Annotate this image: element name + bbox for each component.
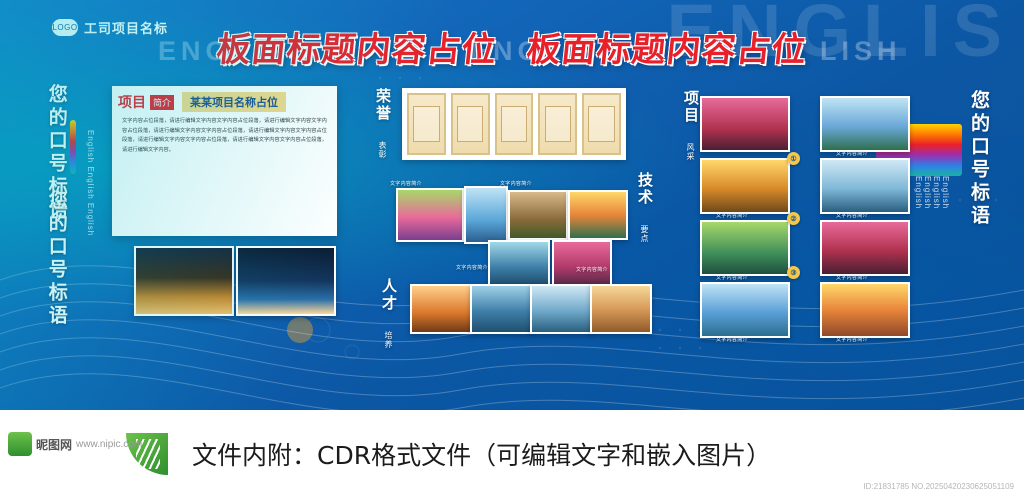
watermark-english-large: ENGLIS — [667, 0, 1014, 73]
section-talent-sub: 培养 — [384, 331, 393, 349]
rainbow-bar-right — [876, 124, 962, 176]
gallery-caption: 文字内容简介 — [576, 266, 608, 273]
section-tech-sub: 要点 — [640, 225, 649, 243]
style-photo — [700, 96, 790, 152]
talent-photo — [590, 284, 652, 334]
slogan-right: 您的口号标语 — [966, 90, 990, 228]
nipic-logo-icon — [8, 432, 32, 456]
asset-id-line: ID:21831785 NO.20250420230625051109 — [863, 482, 1014, 491]
gallery-caption: 文字内容简介 — [390, 180, 422, 187]
section-title-honor: 荣誉 表彰 — [372, 88, 393, 159]
certificate-frame — [495, 93, 534, 155]
wave-lines — [0, 220, 1024, 410]
poster-canvas: ENGLIS ENGLISH ENGLISH LISH LOGO 工司项目名标 … — [0, 0, 1024, 410]
section-honor-main: 荣誉 — [374, 88, 391, 122]
style-photo — [700, 220, 790, 276]
style-photo — [700, 282, 790, 338]
talent-photo — [410, 284, 472, 334]
gallery-photo — [396, 188, 464, 242]
photo-city-night — [134, 246, 234, 316]
section-tech-main: 技术 — [636, 172, 653, 206]
step-number-1: ① — [787, 152, 800, 165]
certificate-frame — [538, 93, 577, 155]
gallery-photo — [508, 190, 568, 240]
watermark-english-mid-3: LISH — [820, 36, 902, 67]
headline-part-2: 板面标题内容占位 — [525, 22, 810, 71]
logo-icon: LOGO — [52, 19, 78, 36]
bottom-note: 文件内附：CDR格式文件（可编辑文字和嵌入图片） — [192, 436, 771, 472]
section-title-tech: 技术 要点 — [634, 172, 655, 243]
slogan-english-left: English English English — [86, 130, 95, 236]
rainbow-bar-left — [70, 120, 76, 174]
headline-part-1: 板面标题内容占位 — [214, 22, 499, 71]
style-caption: 文字内容简介 — [836, 212, 868, 219]
project-intro-card: 项目 简介 某某项目名称占位 文字内容占位段落，请进行编辑文字内容文字内容占位段… — [112, 86, 337, 236]
intro-title-main: 项目 — [118, 92, 146, 112]
section-talent-main: 人才 — [380, 278, 397, 312]
style-caption: 文字内容简介 — [836, 274, 868, 281]
slogan-left-2: 您的口号标语 — [44, 190, 68, 328]
gallery-caption: 文字内容简介 — [456, 264, 488, 271]
photo-city-skyline — [236, 246, 336, 316]
intro-body-text: 文字内容占位段落，请进行编辑文字内容文字内容占位段落，请进行编辑文字内容文字内容… — [112, 115, 337, 156]
intro-header: 项目 简介 某某项目名称占位 — [112, 86, 337, 115]
step-number-2: ② — [787, 212, 800, 225]
section-style-sub: 风采 — [686, 143, 695, 161]
style-photo — [820, 158, 910, 214]
style-caption: 文字内容简介 — [716, 336, 748, 343]
certificate-frame — [451, 93, 490, 155]
style-photo — [820, 96, 910, 152]
section-style-main: 项目 — [682, 90, 699, 124]
style-photo — [820, 220, 910, 276]
style-photo — [700, 158, 790, 214]
certificate-frame — [582, 93, 621, 155]
gallery-photo — [464, 186, 508, 244]
section-title-style: 项目 风采 — [680, 90, 701, 161]
certificate-frame — [407, 93, 446, 155]
gallery-photo — [552, 240, 612, 286]
watermark-english-mid-2: ENGLISH — [470, 36, 625, 67]
site-watermark: 昵图网 www.nipic.com — [8, 432, 142, 456]
headline: 板面标题内容占位 板面标题内容占位 — [0, 22, 1024, 71]
watermark-english-mid: ENGLISH — [158, 36, 313, 67]
company-name: 工司项目名标 — [84, 18, 168, 37]
section-honor-sub: 表彰 — [378, 141, 387, 159]
style-caption: 文字内容简介 — [836, 336, 868, 343]
site-url: www.nipic.com — [76, 439, 142, 450]
slogan-english-right: English English English English — [864, 176, 950, 228]
section-title-talent: 人才 培养 — [378, 278, 399, 349]
honor-certificates — [402, 88, 626, 160]
site-name: 昵图网 — [36, 436, 72, 453]
gallery-caption: 文字内容简介 — [500, 180, 532, 187]
style-caption: 文字内容简介 — [716, 212, 748, 219]
intro-title-tag: 简介 — [150, 95, 174, 110]
style-photo — [820, 282, 910, 338]
slogan-left: 您的口号标语 — [44, 84, 68, 222]
style-caption: 文字内容简介 — [716, 274, 748, 281]
screenshot-root: ENGLIS ENGLISH ENGLISH LISH LOGO 工司项目名标 … — [0, 0, 1024, 497]
intro-project-name: 某某项目名称占位 — [182, 92, 286, 112]
style-caption: 文字内容简介 — [836, 150, 868, 157]
talent-photo — [530, 284, 592, 334]
step-number-3: ③ — [787, 266, 800, 279]
gallery-photo — [488, 240, 550, 286]
dot-pattern — [0, 0, 1024, 410]
logo-row: LOGO 工司项目名标 — [52, 18, 168, 37]
talent-photo — [470, 284, 532, 334]
gallery-photo — [568, 190, 628, 240]
